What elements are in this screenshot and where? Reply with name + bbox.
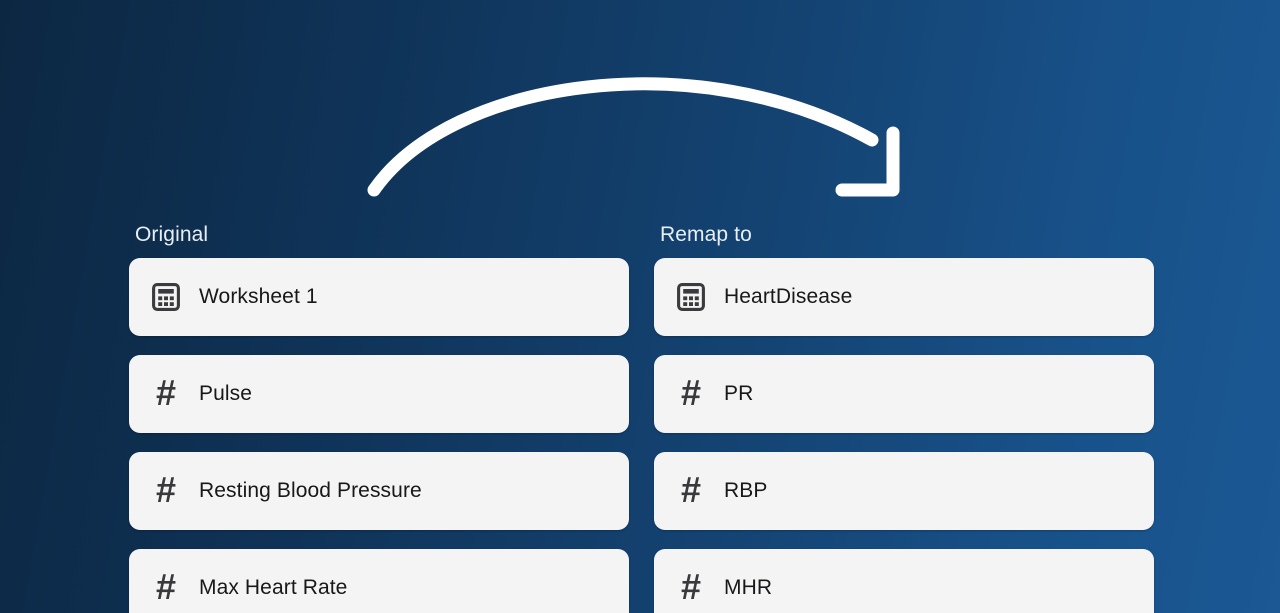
remap-row-mhr[interactable]: # MHR (654, 549, 1154, 613)
hash-glyph: # (156, 472, 176, 508)
remap-row-label: MHR (724, 576, 772, 600)
hash-icon: # (149, 474, 183, 508)
remap-board: Original Worksheet 1 # Pulse (0, 0, 1280, 613)
remap-row-rbp[interactable]: # RBP (654, 452, 1154, 530)
hash-glyph: # (681, 472, 701, 508)
original-row-label: Max Heart Rate (199, 576, 347, 600)
original-column-header: Original (135, 222, 629, 248)
original-row-pulse[interactable]: # Pulse (129, 355, 629, 433)
original-row-label: Worksheet 1 (199, 285, 318, 309)
hash-glyph: # (156, 375, 176, 411)
table-grid-icon (674, 280, 708, 314)
remap-column-header: Remap to (660, 222, 1154, 248)
hash-icon: # (149, 571, 183, 605)
remap-row-pr[interactable]: # PR (654, 355, 1154, 433)
original-row-label: Resting Blood Pressure (199, 479, 422, 503)
hash-glyph: # (681, 569, 701, 605)
hash-glyph: # (681, 375, 701, 411)
original-row-max-heart-rate[interactable]: # Max Heart Rate (129, 549, 629, 613)
hash-icon: # (674, 377, 708, 411)
remap-column: Remap to HeartDisease # PR (654, 222, 1154, 613)
hash-glyph: # (156, 569, 176, 605)
original-row-label: Pulse (199, 382, 252, 406)
remap-row-label: RBP (724, 479, 767, 503)
remap-row-heartdisease[interactable]: HeartDisease (654, 258, 1154, 336)
original-row-resting-blood-pressure[interactable]: # Resting Blood Pressure (129, 452, 629, 530)
remap-row-label: PR (724, 382, 753, 406)
hash-icon: # (674, 474, 708, 508)
original-column: Original Worksheet 1 # Pulse (129, 222, 629, 613)
table-grid-icon (149, 280, 183, 314)
remap-row-label: HeartDisease (724, 285, 852, 309)
original-row-worksheet[interactable]: Worksheet 1 (129, 258, 629, 336)
hash-icon: # (149, 377, 183, 411)
hash-icon: # (674, 571, 708, 605)
